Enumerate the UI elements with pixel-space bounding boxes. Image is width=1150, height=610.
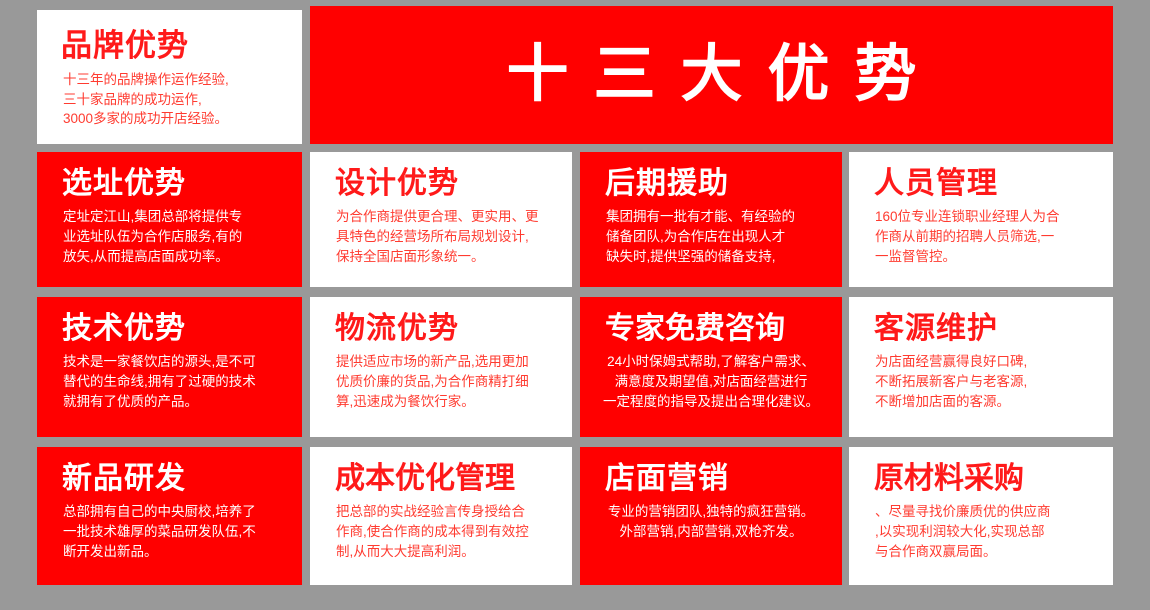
card-title: 设计优势 bbox=[335, 169, 572, 199]
card-body: 、尽量寻找价廉质优的供应商 ,以实现利润较大化,实现总部 与合作商双赢局面。 bbox=[875, 502, 1113, 562]
card-customer-retention: 客源维护 为店面经营赢得良好口碑, 不断拓展新客户与老客源, 不断增加店面的客源… bbox=[849, 297, 1113, 437]
card-title: 客源维护 bbox=[874, 314, 1113, 344]
card-body: 技术是一家餐饮店的源头,是不可 替代的生命线,拥有了过硬的技术 就拥有了优质的产… bbox=[63, 352, 302, 412]
card-body: 160位专业连锁职业经理人为合 作商从前期的招聘人员筛选,一 一监督管控。 bbox=[875, 207, 1113, 267]
card-logistics: 物流优势 提供适应市场的新产品,选用更加 优质价廉的货品,为合作商精打细 算,迅… bbox=[310, 297, 572, 437]
card-brand-advantage: 品牌优势 十三年的品牌操作运作经验, 三十家品牌的成功运作, 3000多家的成功… bbox=[37, 10, 302, 144]
card-body: 定址定江山,集团总部将提供专 业选址队伍为合作店服务,有的 放矢,从而提高店面成… bbox=[63, 207, 302, 267]
banner-title: 十三大优势 bbox=[481, 44, 941, 106]
card-design: 设计优势 为合作商提供更合理、更实用、更 具特色的经营场所布局规划设计, 保持全… bbox=[310, 152, 572, 287]
main-banner: 十三大优势 bbox=[310, 6, 1113, 144]
card-title: 新品研发 bbox=[62, 464, 302, 494]
card-body: 为合作商提供更合理、更实用、更 具特色的经营场所布局规划设计, 保持全国店面形象… bbox=[336, 207, 572, 267]
card-title: 原材料采购 bbox=[874, 464, 1113, 494]
card-body: 提供适应市场的新产品,选用更加 优质价廉的货品,为合作商精打细 算,迅速成为餐饮… bbox=[336, 352, 572, 412]
card-expert-consulting: 专家免费咨询 24小时保姆式帮助,了解客户需求、 满意度及期望值,对店面经营进行… bbox=[580, 297, 842, 437]
card-site-selection: 选址优势 定址定江山,集团总部将提供专 业选址队伍为合作店服务,有的 放矢,从而… bbox=[37, 152, 302, 287]
card-post-support: 后期援助 集团拥有一批有才能、有经验的 储备团队,为合作店在出现人才 缺失时,提… bbox=[580, 152, 842, 287]
card-title: 品牌优势 bbox=[61, 30, 302, 61]
card-body: 把总部的实战经验言传身授给合 作商,使合作商的成本得到有效控 制,从而大大提高利… bbox=[336, 502, 572, 562]
card-title: 选址优势 bbox=[62, 169, 302, 199]
card-title: 后期援助 bbox=[605, 169, 842, 199]
card-body: 十三年的品牌操作运作经验, 三十家品牌的成功运作, 3000多家的成功开店经验。 bbox=[63, 70, 302, 129]
card-title: 人员管理 bbox=[874, 169, 1113, 199]
card-staff-management: 人员管理 160位专业连锁职业经理人为合 作商从前期的招聘人员筛选,一 一监督管… bbox=[849, 152, 1113, 287]
card-title: 技术优势 bbox=[62, 314, 302, 344]
card-body: 24小时保姆式帮助,了解客户需求、 满意度及期望值,对店面经营进行 一定程度的指… bbox=[580, 352, 842, 412]
card-title: 物流优势 bbox=[335, 314, 572, 344]
card-raw-material-purchase: 原材料采购 、尽量寻找价廉质优的供应商 ,以实现利润较大化,实现总部 与合作商双… bbox=[849, 447, 1113, 585]
card-title: 专家免费咨询 bbox=[605, 314, 842, 344]
card-title: 成本优化管理 bbox=[335, 464, 572, 494]
card-store-marketing: 店面营销 专业的营销团队,独特的疯狂营销。 外部营销,内部营销,双枪齐发。 bbox=[580, 447, 842, 585]
card-cost-optimization: 成本优化管理 把总部的实战经验言传身授给合 作商,使合作商的成本得到有效控 制,… bbox=[310, 447, 572, 585]
card-title: 店面营销 bbox=[605, 464, 842, 494]
card-body: 专业的营销团队,独特的疯狂营销。 外部营销,内部营销,双枪齐发。 bbox=[580, 502, 842, 542]
card-technology: 技术优势 技术是一家餐饮店的源头,是不可 替代的生命线,拥有了过硬的技术 就拥有… bbox=[37, 297, 302, 437]
poster-root: 品牌优势 十三年的品牌操作运作经验, 三十家品牌的成功运作, 3000多家的成功… bbox=[0, 0, 1150, 610]
card-body: 总部拥有自己的中央厨校,培养了 一批技术雄厚的菜品研发队伍,不 断开发出新品。 bbox=[63, 502, 302, 562]
card-body: 为店面经营赢得良好口碑, 不断拓展新客户与老客源, 不断增加店面的客源。 bbox=[875, 352, 1113, 412]
card-new-product-rd: 新品研发 总部拥有自己的中央厨校,培养了 一批技术雄厚的菜品研发队伍,不 断开发… bbox=[37, 447, 302, 585]
card-body: 集团拥有一批有才能、有经验的 储备团队,为合作店在出现人才 缺失时,提供坚强的储… bbox=[606, 207, 842, 267]
